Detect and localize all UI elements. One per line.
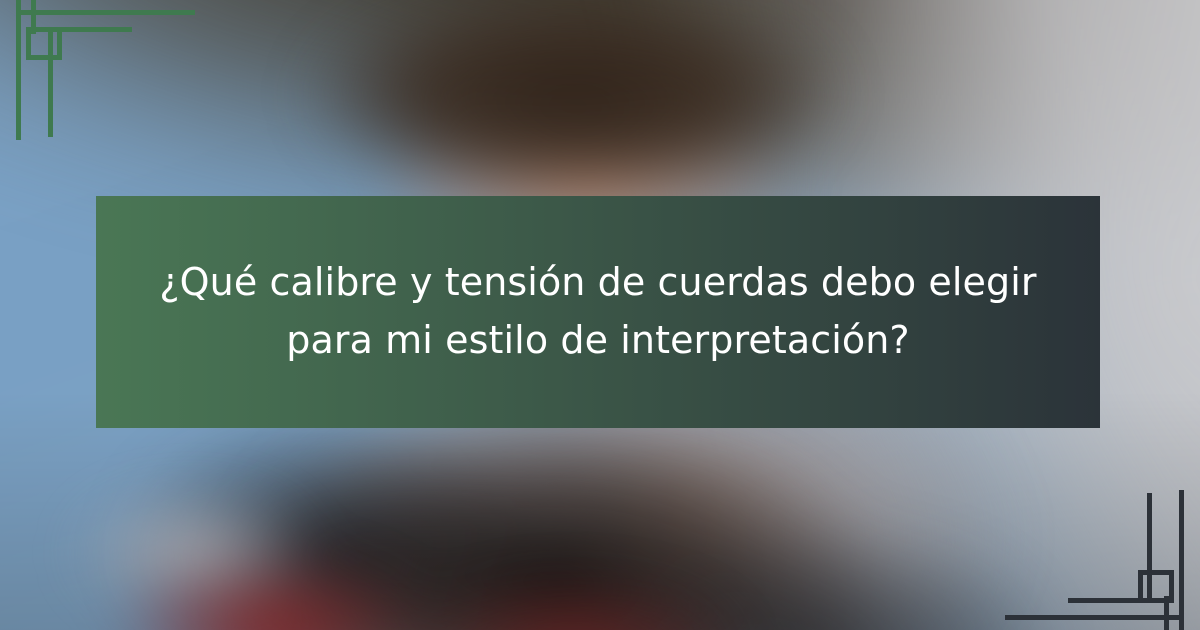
ornament-vertical-long-bar xyxy=(1179,490,1184,630)
corner-bracket-top-left-icon xyxy=(0,0,230,170)
headline-line-2: para mi estilo de interpretación? xyxy=(286,318,909,362)
ornament-horizontal-long-bar xyxy=(1005,615,1184,620)
headline-banner: ¿Qué calibre y tensión de cuerdas debo e… xyxy=(96,196,1100,428)
ornament-horizontal-long-bar xyxy=(16,10,195,15)
page-title: ¿Qué calibre y tensión de cuerdas debo e… xyxy=(156,254,1040,370)
corner-bracket-bottom-right-icon xyxy=(970,460,1200,630)
ornament-square-icon xyxy=(1138,570,1174,603)
share-card: ¿Qué calibre y tensión de cuerdas debo e… xyxy=(0,0,1200,630)
ornament-square-icon xyxy=(26,27,62,60)
headline-line-1: ¿Qué calibre y tensión de cuerdas debo e… xyxy=(159,260,1036,304)
ornament-vertical-long-bar xyxy=(16,0,21,140)
